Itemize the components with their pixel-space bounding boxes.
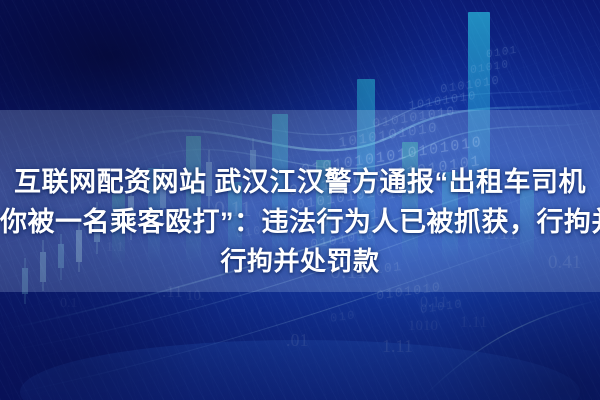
news-thumbnail-image: 0101010101010101001010101010101010101010… xyxy=(0,0,600,400)
headline-line-3: 行拘并处罚款 xyxy=(0,243,600,279)
headline-line-1: 互联网配资网站 武汉江汉警方通报“出租车司机 xyxy=(0,163,600,201)
headline-line-2: 你被一名乘客殴打”：违法行为人已被抓获，行拘并处 xyxy=(0,203,600,241)
